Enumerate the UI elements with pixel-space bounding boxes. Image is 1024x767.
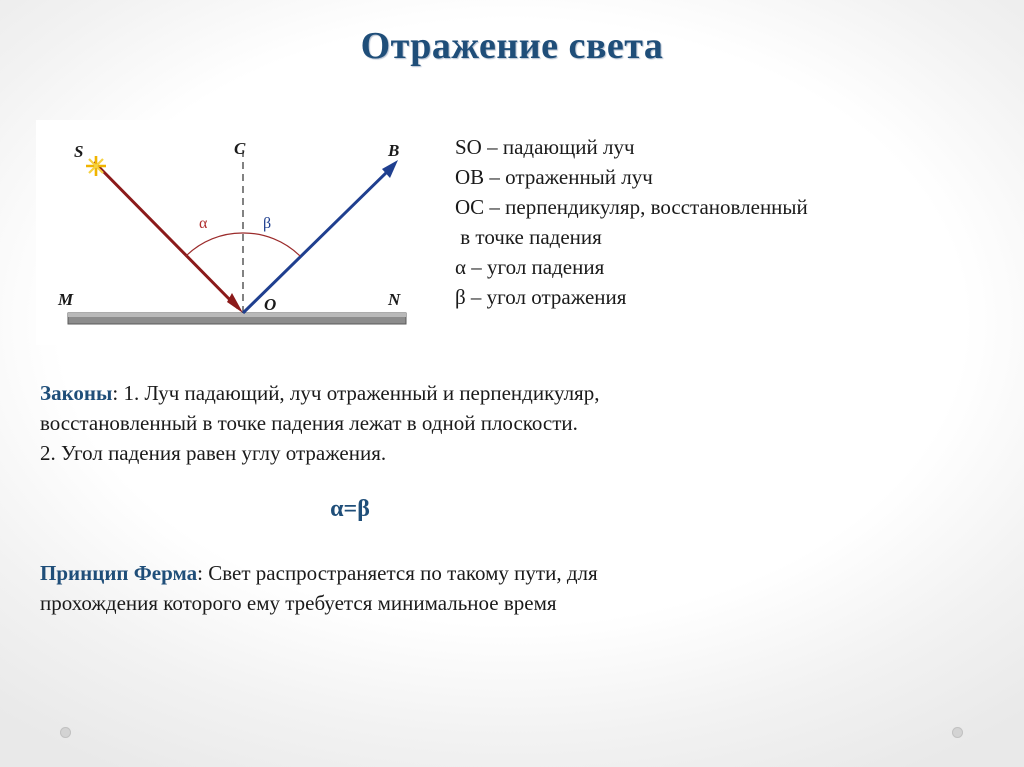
legend-line-5: α – угол падения [455, 252, 1015, 282]
fermat-line-1: Принцип Ферма: Свет распространяется по … [40, 558, 940, 588]
fermat-heading-suffix: : [197, 561, 208, 585]
angle-label-alpha: α [199, 215, 207, 233]
point-label-b: B [388, 141, 399, 161]
point-label-c: C [234, 139, 245, 159]
laws-line-1: Законы: 1. Луч падающий, луч отраженный … [40, 378, 990, 408]
legend-line-2: OB – отраженный луч [455, 162, 1015, 192]
laws-heading: Законы [40, 381, 112, 405]
legend-line-3: OC – перпендикуляр, восстановленный [455, 192, 1015, 222]
law-formula: α=β [40, 494, 660, 524]
legend-line-4: в точке падения [455, 222, 1015, 252]
laws-block: Законы: 1. Луч падающий, луч отраженный … [40, 378, 990, 468]
legend-line-6: β – угол отражения [455, 282, 1015, 312]
laws-line-2: восстановленный в точке падения лежат в … [40, 408, 990, 438]
mirror-highlight [68, 313, 406, 317]
decoration-dot-left [60, 727, 71, 738]
angle-label-beta: β [263, 215, 271, 233]
laws-heading-suffix: : [112, 381, 123, 405]
reflected-ray [243, 168, 391, 313]
laws-line-3: 2. Угол падения равен углу отражения. [40, 438, 990, 468]
fermat-heading: Принцип Ферма [40, 561, 197, 585]
light-source-star-icon [86, 156, 106, 176]
angle-beta-arc [243, 233, 300, 256]
decoration-dot-right [952, 727, 963, 738]
page-title: Отражение света [0, 24, 1024, 68]
reflection-diagram: S C B M O N α β [36, 120, 436, 345]
point-label-n: N [388, 290, 400, 310]
point-label-m: M [58, 290, 73, 310]
legend-line-1: SO – падающий луч [455, 132, 1015, 162]
fermat-block: Принцип Ферма: Свет распространяется по … [40, 558, 940, 618]
angle-alpha-arc [186, 233, 243, 256]
fermat-text-1: Свет распространяется по такому пути, дл… [208, 561, 597, 585]
legend-block: SO – падающий луч OB – отраженный луч OC… [455, 132, 1015, 312]
fermat-line-2: прохождения которого ему требуется миним… [40, 588, 940, 618]
point-label-o: O [264, 295, 276, 315]
point-label-s: S [74, 142, 83, 162]
incident-ray [94, 162, 238, 308]
incident-ray-arrowhead [227, 293, 243, 313]
laws-item-1: 1. Луч падающий, луч отраженный и перпен… [124, 381, 600, 405]
